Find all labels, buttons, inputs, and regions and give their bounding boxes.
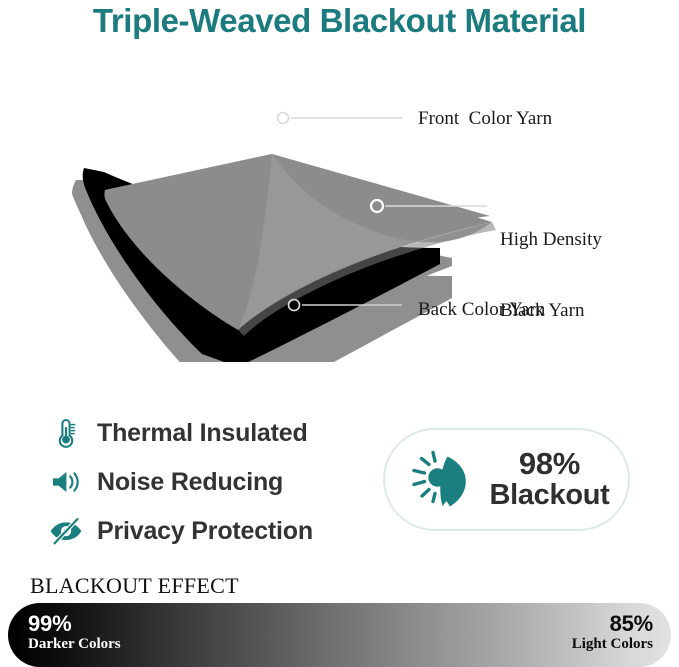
feature-item-thermal-insulated: Thermal Insulated — [48, 412, 368, 454]
eye-slash-icon — [48, 513, 84, 549]
callout-marker-front — [278, 113, 289, 124]
speaker-sound-icon — [48, 464, 84, 500]
feature-label-privacy-protection: Privacy Protection — [97, 517, 313, 546]
feature-item-privacy-protection: Privacy Protection — [48, 510, 368, 552]
sun-blocked-by-curtain-icon — [403, 445, 479, 515]
blackout-stat-light-colors: 85% Light Colors — [572, 612, 653, 652]
callout-label-back: Back Color Yarn — [418, 298, 545, 322]
blackout-word: Blackout — [479, 480, 620, 510]
blackout-stat-darker-percent: 99% — [28, 612, 121, 636]
feature-item-noise-reducing: Noise Reducing — [48, 461, 368, 503]
blackout-stat-darker-caption: Darker Colors — [28, 636, 121, 652]
feature-label-thermal-insulated: Thermal Insulated — [97, 419, 308, 448]
feature-list: Thermal Insulated Noise Reducing Privacy… — [48, 412, 368, 559]
blackout-badge-text: 98% Blackout — [479, 448, 628, 510]
blackout-stat-darker-colors: 99% Darker Colors — [28, 612, 121, 652]
callout-front — [278, 113, 403, 124]
thermometer-icon — [48, 415, 84, 451]
blackout-stat-light-percent: 85% — [572, 612, 653, 636]
callout-label-front: Front Color Yarn — [418, 107, 552, 131]
page-title: Triple-Weaved Blackout Material — [0, 2, 679, 40]
blackout-percent: 98% — [479, 448, 620, 480]
blackout-effect-heading: BLACKOUT EFFECT — [30, 573, 239, 599]
feature-label-noise-reducing: Noise Reducing — [97, 468, 283, 497]
blackout-stat-light-caption: Light Colors — [572, 636, 653, 652]
blackout-effect-gradient-bar: 99% Darker Colors 85% Light Colors — [8, 603, 671, 667]
blackout-badge: 98% Blackout — [383, 428, 630, 531]
callout-label-high-density-line1: High Density — [500, 228, 602, 252]
